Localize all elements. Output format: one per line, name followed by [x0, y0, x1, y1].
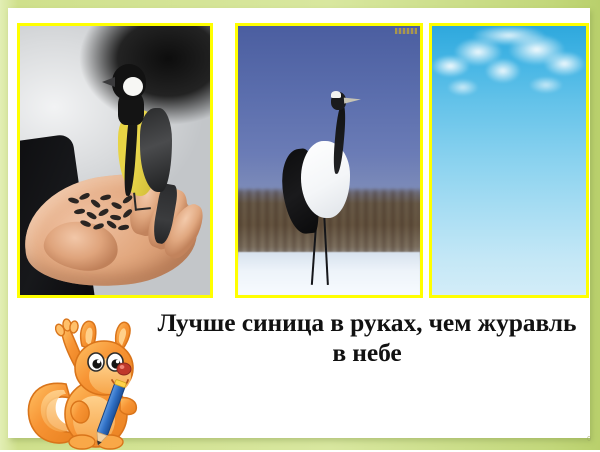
- great-tit-bird: [106, 64, 186, 199]
- slide: Лучше синица в руках, чем журавль в небе…: [0, 0, 600, 450]
- crane-leg: [323, 211, 329, 285]
- photo-crane-canvas: [238, 26, 420, 295]
- photo-watermark-icon: [395, 28, 417, 34]
- bird-legs: [133, 191, 151, 211]
- caption-line-1: Лучше синица в руках, чем журавль: [144, 308, 590, 338]
- photo-crane-in-snow[interactable]: [235, 23, 423, 298]
- photo-great-tit-canvas: [20, 26, 210, 295]
- photo-strip: [17, 23, 589, 298]
- red-crowned-crane: [285, 91, 383, 285]
- photo-great-tit-in-hand[interactable]: [17, 23, 213, 298]
- slide-corner-mark: 0: [587, 436, 591, 443]
- bird-cheek-patch: [123, 77, 143, 96]
- caption-proverb: Лучше синица в руках, чем журавль в небе: [144, 308, 590, 368]
- squirrel-with-pencil-mascot: [20, 306, 156, 452]
- crane-body: [301, 141, 350, 218]
- photo-sky-canvas: [432, 26, 586, 295]
- clouds: [432, 26, 586, 144]
- crane-crown: [331, 91, 341, 98]
- photo-blue-sky[interactable]: [429, 23, 589, 298]
- bird-wing: [140, 108, 172, 192]
- crane-beak: [344, 96, 361, 103]
- bird-beak: [102, 77, 115, 87]
- caption-line-2: в небе: [144, 338, 590, 368]
- slide-content-area: Лучше синица в руках, чем журавль в небе: [8, 8, 590, 438]
